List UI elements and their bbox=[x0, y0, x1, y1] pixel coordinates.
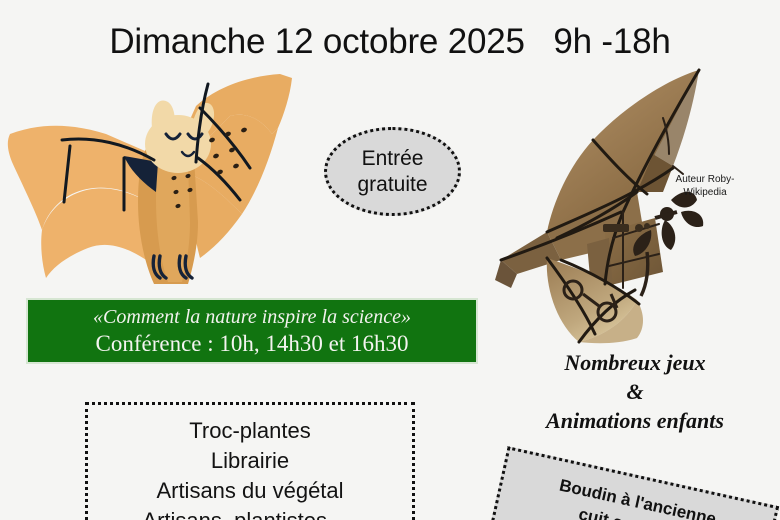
entree-gratuite-line-2: gratuite bbox=[357, 172, 427, 198]
entree-gratuite-badge: Entrée gratuite bbox=[324, 127, 461, 216]
activities-box: Troc-plantes Librairie Artisans du végét… bbox=[85, 402, 415, 520]
poster-canvas: Dimanche 12 octobre 2025 9h -18h bbox=[0, 0, 780, 520]
games-line-3: Animations enfants bbox=[492, 406, 778, 435]
bat-illustration bbox=[2, 72, 294, 287]
boudin-box: Boudin à l'ancienne cuit sur place bbox=[487, 446, 779, 520]
activity-item: Artisans du végétal bbox=[88, 476, 412, 506]
activity-item: Librairie bbox=[88, 446, 412, 476]
conference-times: Conférence : 10h, 14h30 et 16h30 bbox=[96, 330, 409, 358]
photo-credit-line-1: Auteur Roby- bbox=[676, 174, 735, 185]
games-line-2: & bbox=[492, 377, 778, 406]
games-block: Nombreux jeux & Animations enfants bbox=[492, 348, 778, 435]
conference-banner: «Comment la nature inspire la science» C… bbox=[26, 298, 478, 364]
activity-item: Artisans, plantistes, ... bbox=[88, 506, 412, 520]
ornithopter-photo bbox=[487, 62, 777, 347]
conference-title: «Comment la nature inspire la science» bbox=[93, 305, 411, 330]
games-line-1: Nombreux jeux bbox=[492, 348, 778, 377]
event-date-heading: Dimanche 12 octobre 2025 9h -18h bbox=[0, 22, 780, 62]
activity-item: Troc-plantes bbox=[88, 416, 412, 446]
entree-gratuite-line-1: Entrée bbox=[362, 146, 424, 172]
photo-credit: Auteur Roby- Wikipedia bbox=[655, 174, 755, 199]
photo-credit-line-2: Wikipedia bbox=[683, 187, 726, 198]
